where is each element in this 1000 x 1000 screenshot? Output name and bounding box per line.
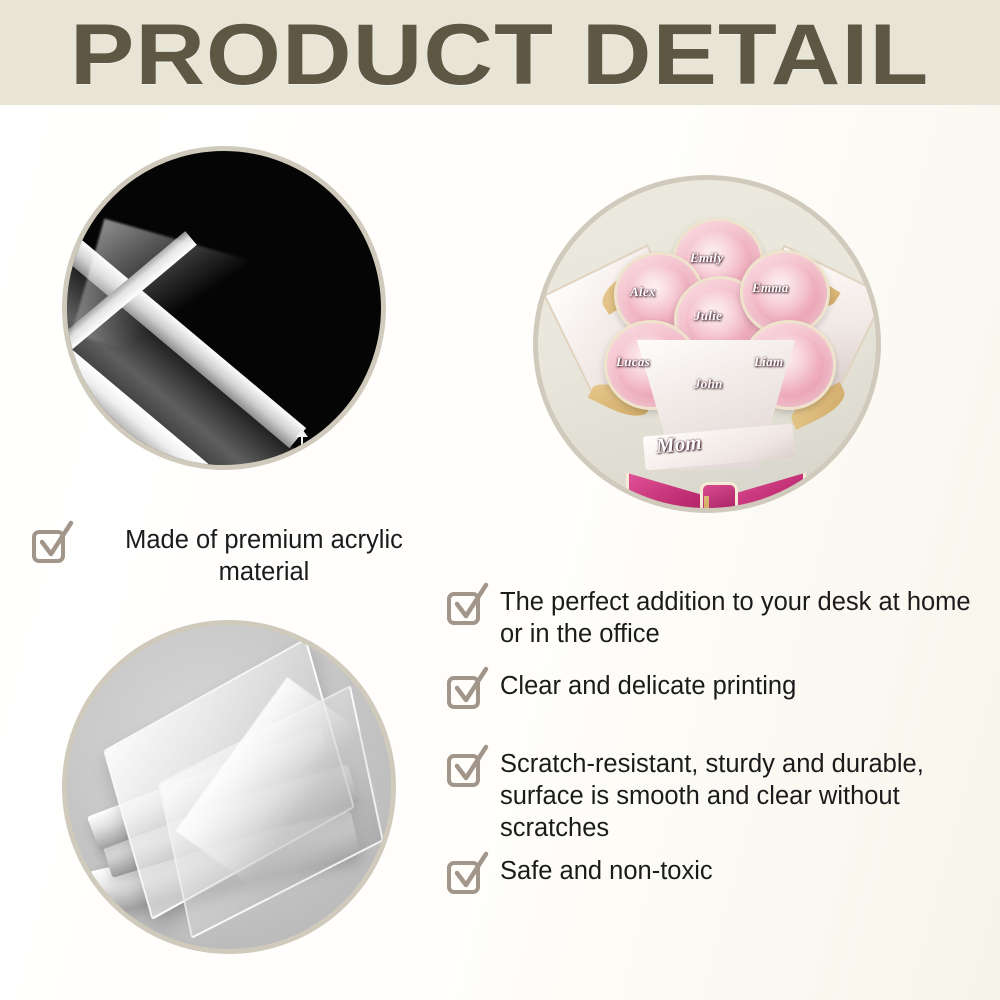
feature-label: Clear and delicate printing <box>500 670 796 702</box>
checkbox-checked-icon <box>32 526 69 563</box>
checkbox-checked-icon <box>447 588 484 625</box>
mom-label: Mom <box>655 430 703 459</box>
product-detail-infographic: PRODUCT DETAIL Thickness 0.55 in <box>0 0 1000 1000</box>
rose-name-emily: Emily <box>690 250 723 266</box>
rose-name-lucas: Lucas <box>616 354 650 370</box>
rose-name-julie: Julie <box>694 308 722 324</box>
double-arrow-icon <box>295 429 309 470</box>
bouquet-stem <box>704 496 709 513</box>
checkbox-checked-icon <box>447 750 484 787</box>
feature-item-material: Made of premium acrylic material <box>32 524 452 588</box>
acrylic-sheets-photo <box>62 620 396 954</box>
feature-item-safety: Safe and non-toxic <box>447 855 995 894</box>
feature-item-durability: Scratch-resistant, sturdy and durable, s… <box>447 748 995 844</box>
acrylic-edge-closeup-photo: Thickness 0.55 in <box>62 146 386 470</box>
rose-name-john: John <box>694 376 723 392</box>
feature-item-desk: The perfect addition to your desk at hom… <box>447 586 995 650</box>
feature-label: The perfect addition to your desk at hom… <box>500 586 995 650</box>
thickness-label: Thickness 0.55 in <box>317 432 386 470</box>
thickness-label-value: 0.55 in <box>317 466 386 470</box>
checkbox-checked-icon <box>447 672 484 709</box>
page-title: PRODUCT DETAIL <box>70 12 929 98</box>
thickness-callout: Thickness 0.55 in <box>295 429 386 470</box>
checkbox-checked-icon <box>447 857 484 894</box>
acrylic-sheets-illustration <box>67 625 391 949</box>
thickness-label-title: Thickness <box>317 432 386 466</box>
rose-bouquet-photo: Emily Alex Julie Emma Lucas John Liam Mo… <box>533 175 881 513</box>
header-band: PRODUCT DETAIL <box>0 0 1000 105</box>
rose-name-liam: Liam <box>754 354 783 370</box>
feature-label: Scratch-resistant, sturdy and durable, s… <box>500 748 995 844</box>
rose-name-emma: Emma <box>752 280 789 296</box>
feature-item-printing: Clear and delicate printing <box>447 670 995 709</box>
bouquet-illustration: Emily Alex Julie Emma Lucas John Liam Mo… <box>538 180 876 508</box>
feature-label: Made of premium acrylic material <box>85 524 443 588</box>
ribbon-bow <box>626 464 806 513</box>
bow-loop-left <box>626 464 710 513</box>
feature-label: Safe and non-toxic <box>500 855 713 887</box>
rose-name-alex: Alex <box>630 284 656 300</box>
acrylic-edge-illustration <box>67 151 381 465</box>
